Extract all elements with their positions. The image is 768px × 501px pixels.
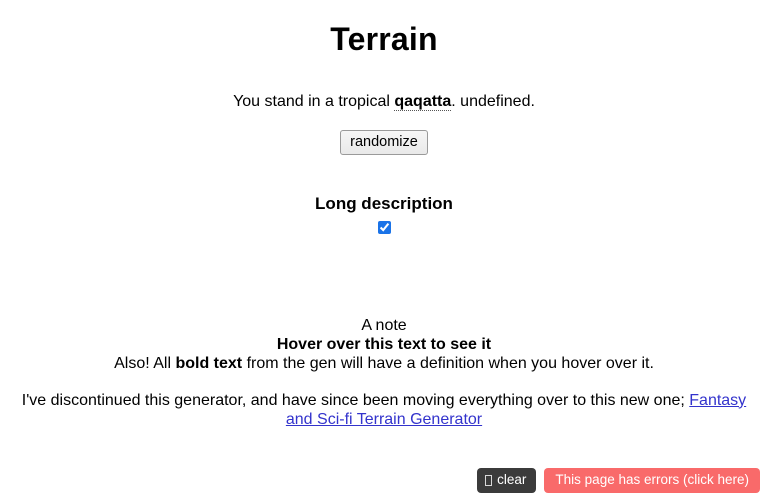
note-line-hover[interactable]: Hover over this text to see it <box>8 335 760 354</box>
page-title: Terrain <box>8 21 760 58</box>
clear-button[interactable]: clear <box>477 468 536 493</box>
discontinued-text: I've discontinued this generator, and ha… <box>22 392 689 409</box>
note-block: A note Hover over this text to see it Al… <box>8 316 760 373</box>
page-container: Terrain You stand in a tropical qaqatta.… <box>0 21 768 429</box>
randomize-button[interactable]: randomize <box>340 130 428 155</box>
note-line-3-bold: bold text <box>175 355 242 372</box>
defined-term[interactable]: qaqatta <box>394 93 451 111</box>
long-description-heading: Long description <box>8 194 760 214</box>
long-description-checkbox-wrap <box>8 221 760 234</box>
trash-icon <box>485 475 492 486</box>
note-line-3-prefix: Also! All <box>114 355 175 372</box>
discontinued-notice: I've discontinued this generator, and ha… <box>8 391 760 429</box>
generated-description: You stand in a tropical qaqatta. undefin… <box>8 92 760 111</box>
randomize-button-wrap: randomize <box>8 130 760 155</box>
clear-button-label: clear <box>497 473 526 487</box>
description-prefix: You stand in a tropical <box>233 93 394 110</box>
page-errors-button[interactable]: This page has errors (click here) <box>544 468 760 493</box>
note-line-3: Also! All bold text from the gen will ha… <box>8 354 760 373</box>
long-description-checkbox[interactable] <box>378 221 391 234</box>
note-line-3-suffix: from the gen will have a definition when… <box>242 355 654 372</box>
error-console-bar: clear This page has errors (click here) <box>477 468 760 493</box>
long-description-body <box>8 234 760 316</box>
note-line-1: A note <box>8 316 760 335</box>
description-suffix: . undefined. <box>451 93 535 110</box>
